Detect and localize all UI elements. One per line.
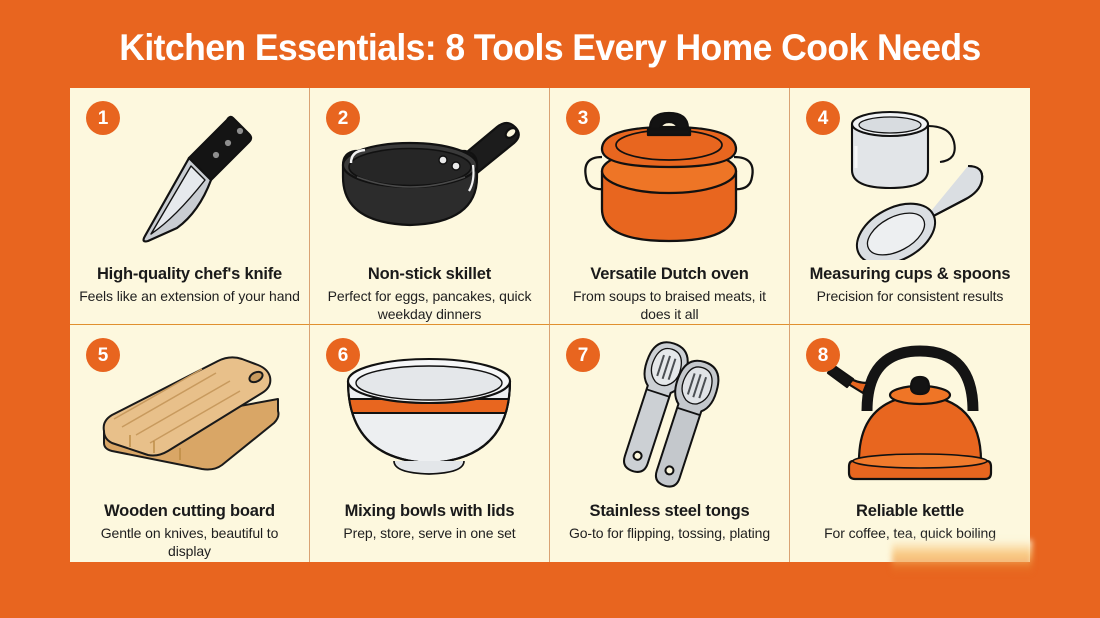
item-number-badge-1: 1 [86, 101, 120, 135]
item-title-4: Measuring cups & spoons [798, 264, 1022, 285]
item-caption-5: Wooden cutting board Gentle on knives, b… [70, 501, 309, 560]
grid-cell-6: 6 Mi [310, 325, 550, 562]
item-subtitle-7: Go-to for flipping, tossing, plating [558, 524, 781, 542]
item-subtitle-5: Gentle on knives, beautiful to display [78, 524, 301, 560]
grid-cell-7: 7 [550, 325, 790, 562]
item-caption-6: Mixing bowls with lids Prep, store, serv… [310, 501, 549, 542]
grid-cell-2: 2 Non-stick skillet Perfect for eggs, [310, 88, 550, 325]
grid-cell-3: 3 Versatile Dutch oven From soups to bra… [550, 88, 790, 325]
item-caption-2: Non-stick skillet Perfect for eggs, panc… [310, 264, 549, 323]
essentials-grid: 1 High-quality chef's knife Feels like a… [70, 88, 1030, 562]
item-caption-4: Measuring cups & spoons Precision for co… [790, 264, 1030, 305]
grid-cell-1: 1 High-quality chef's knife Feels like a… [70, 88, 310, 325]
item-title-7: Stainless steel tongs [558, 501, 781, 522]
page-title: Kitchen Essentials: 8 Tools Every Home C… [22, 26, 1078, 70]
item-number-badge-7: 7 [566, 338, 600, 372]
item-subtitle-4: Precision for consistent results [798, 287, 1022, 305]
item-number-badge-8: 8 [806, 338, 840, 372]
item-caption-1: High-quality chef's knife Feels like an … [70, 264, 309, 305]
item-caption-3: Versatile Dutch oven From soups to brais… [550, 264, 789, 323]
item-title-5: Wooden cutting board [78, 501, 301, 522]
item-number-badge-2: 2 [326, 101, 360, 135]
item-title-1: High-quality chef's knife [78, 264, 301, 285]
item-subtitle-2: Perfect for eggs, pancakes, quick weekda… [318, 287, 541, 323]
item-subtitle-8: For coffee, tea, quick boiling [798, 524, 1022, 542]
item-title-3: Versatile Dutch oven [558, 264, 781, 285]
item-subtitle-1: Feels like an extension of your hand [78, 287, 301, 305]
item-subtitle-6: Prep, store, serve in one set [318, 524, 541, 542]
item-title-8: Reliable kettle [798, 501, 1022, 522]
item-number-badge-3: 3 [566, 101, 600, 135]
item-number-badge-6: 6 [326, 338, 360, 372]
grid-cell-4: 4 Measuring cups & spoons Precision for … [790, 88, 1030, 325]
item-title-2: Non-stick skillet [318, 264, 541, 285]
item-caption-7: Stainless steel tongs Go-to for flipping… [550, 501, 789, 542]
item-subtitle-3: From soups to braised meats, it does it … [558, 287, 781, 323]
item-number-badge-4: 4 [806, 101, 840, 135]
item-title-6: Mixing bowls with lids [318, 501, 541, 522]
item-caption-8: Reliable kettle For coffee, tea, quick b… [790, 501, 1030, 542]
grid-cell-8: 8 Reliable kettle For coffee, tea, quick… [790, 325, 1030, 562]
grid-cell-5: 5 [70, 325, 310, 562]
item-number-badge-5: 5 [86, 338, 120, 372]
